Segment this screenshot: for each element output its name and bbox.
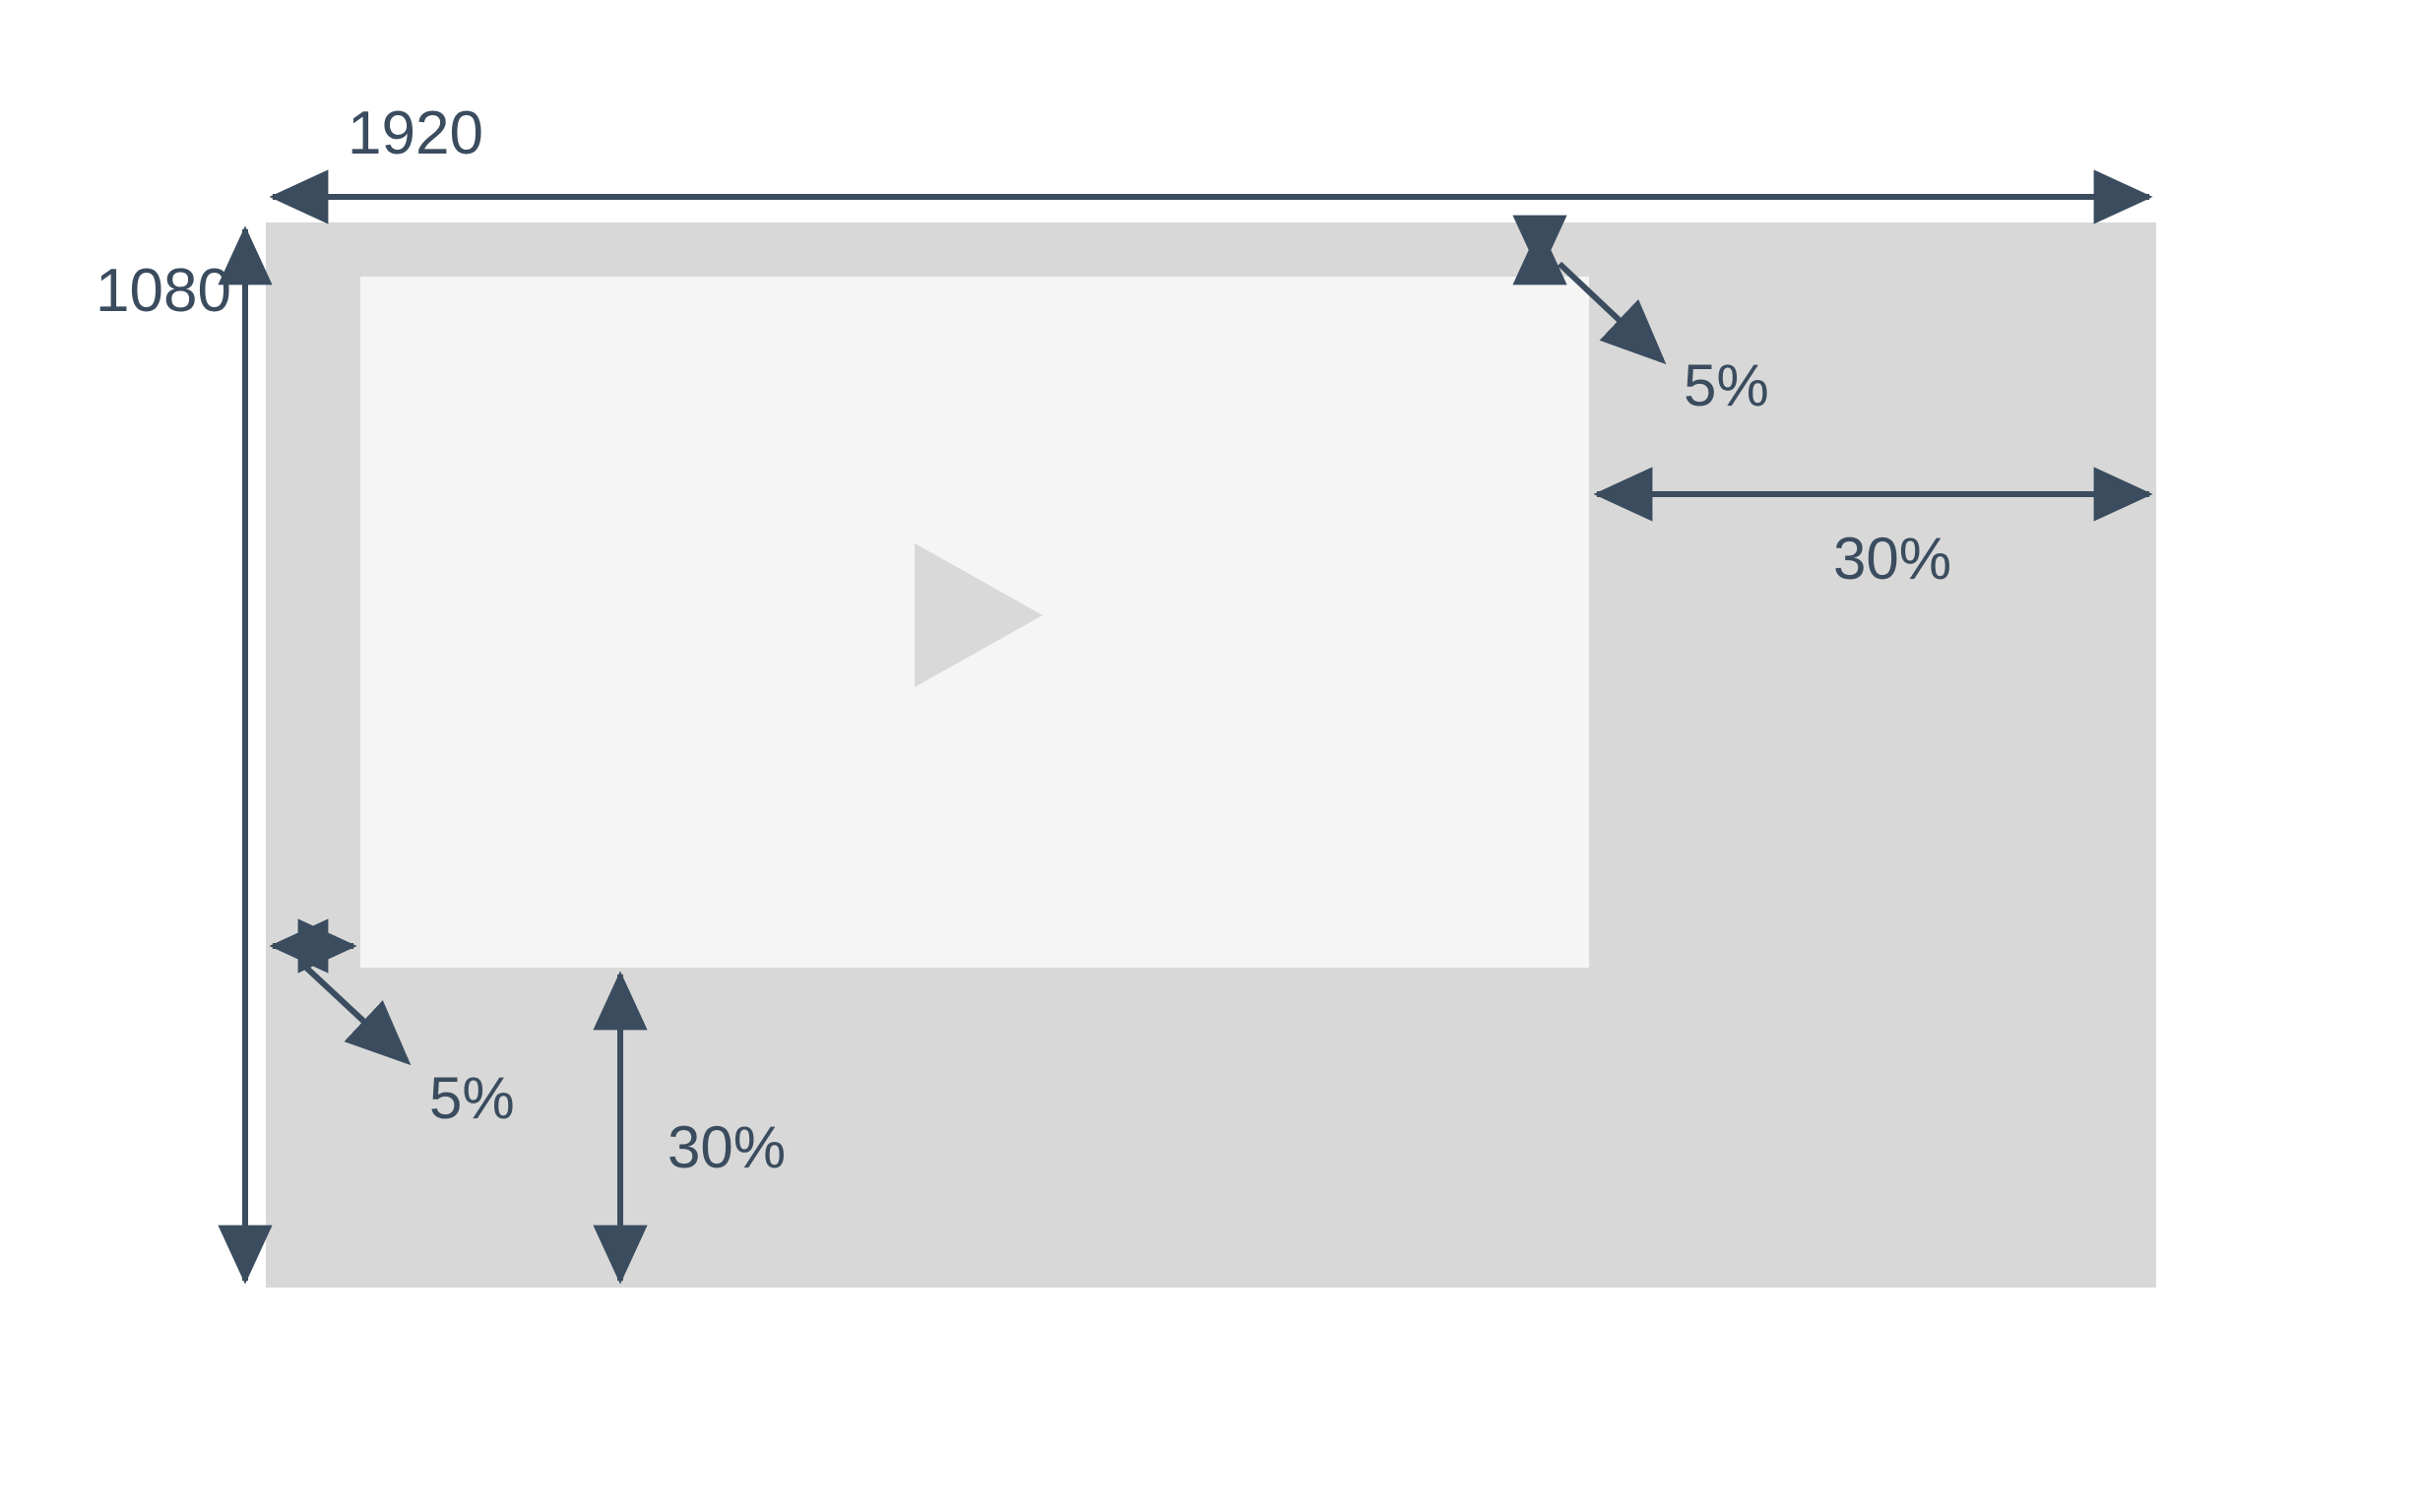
- inset-label-top: 5%: [1684, 356, 1769, 415]
- diagram-canvas: 1920 1080 5% 30% 5% 30%: [0, 0, 2421, 1512]
- play-icon: [915, 543, 1043, 687]
- gap-label-bottom: 30%: [668, 1118, 786, 1177]
- dimension-label-height: 1080: [96, 261, 231, 322]
- dimension-label-width: 1920: [348, 103, 483, 164]
- inset-label-left: 5%: [429, 1069, 515, 1128]
- gap-label-right: 30%: [1833, 530, 1951, 589]
